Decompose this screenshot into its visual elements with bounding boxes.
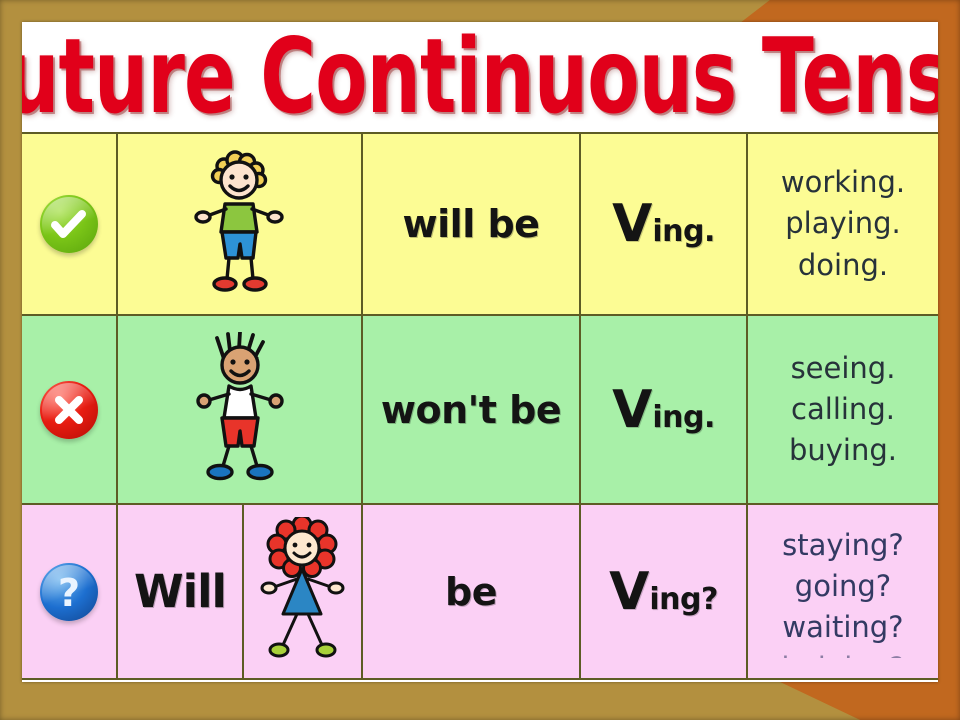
subject-cell-negative	[118, 316, 363, 503]
list-item: playing.	[752, 203, 934, 244]
verb-examples-list: staying? going? waiting? helping?	[748, 525, 938, 659]
list-item: working.	[752, 162, 934, 203]
verb-form-text: Ving.	[612, 380, 715, 440]
auxiliary-text: won't be	[381, 388, 561, 432]
stick-figure-boy-green-shirt-icon	[185, 149, 295, 299]
verb-form-base: V	[612, 380, 652, 440]
verb-form-base: V	[609, 562, 649, 622]
list-item: seeing.	[752, 348, 934, 389]
svg-text:?: ?	[58, 571, 80, 615]
verb-form-cell-affirmative: Ving.	[581, 134, 748, 314]
table-row-question: ? Will	[22, 505, 938, 680]
verb-examples-cell-negative: seeing. calling. buying.	[748, 316, 938, 503]
auxiliary-cell-negative: won't be	[363, 316, 581, 503]
list-item: staying?	[752, 525, 934, 566]
verb-examples-list: seeing. calling. buying.	[748, 348, 938, 472]
auxiliary-text: will be	[403, 202, 540, 246]
blue-question-circle-icon: ?	[40, 563, 98, 621]
verb-form-suffix: ing.	[652, 214, 715, 249]
question-word-cell: Will	[118, 505, 244, 678]
tense-structure-table: will be Ving. working. playing. doing.	[22, 132, 938, 680]
sign-cell-question: ?	[22, 505, 118, 678]
list-item-clipped: helping?	[752, 648, 934, 658]
subject-cell-affirmative	[118, 134, 363, 314]
verb-examples-cell-question: staying? going? waiting? helping?	[748, 505, 938, 678]
sign-cell-negative	[22, 316, 118, 503]
question-word-text: Will	[134, 565, 226, 618]
slide: Future Continuous Tense	[0, 0, 960, 720]
verb-form-suffix: ing?	[649, 582, 718, 617]
content-card: Future Continuous Tense	[22, 22, 938, 682]
list-item: going?	[752, 566, 934, 607]
stick-figure-girl-flower-hair-icon	[250, 517, 355, 667]
red-cross-circle-icon	[40, 381, 98, 439]
verb-form-text: Ving?	[609, 562, 718, 622]
list-item: doing.	[752, 245, 934, 286]
verb-form-cell-negative: Ving.	[581, 316, 748, 503]
table-row-affirmative: will be Ving. working. playing. doing.	[22, 134, 938, 316]
stick-figure-boy-white-tank-icon	[185, 332, 295, 487]
verb-form-base: V	[612, 194, 652, 254]
verb-form-text: Ving.	[612, 194, 715, 254]
verb-examples-list: working. playing. doing.	[748, 162, 938, 286]
green-check-circle-icon	[40, 195, 98, 253]
list-item: waiting?	[752, 607, 934, 648]
list-item: buying.	[752, 430, 934, 471]
auxiliary-cell-affirmative: will be	[363, 134, 581, 314]
auxiliary-cell-question: be	[363, 505, 581, 678]
verb-examples-cell-affirmative: working. playing. doing.	[748, 134, 938, 314]
table-row-negative: won't be Ving. seeing. calling. buying.	[22, 316, 938, 505]
auxiliary-text: be	[445, 570, 497, 614]
title-bar: Future Continuous Tense	[22, 22, 938, 132]
verb-form-cell-question: Ving?	[581, 505, 748, 678]
subject-cell-question	[244, 505, 363, 678]
list-item: calling.	[752, 389, 934, 430]
verb-form-suffix: ing.	[652, 400, 715, 435]
page-title: Future Continuous Tense	[22, 28, 938, 126]
sign-cell-affirmative	[22, 134, 118, 314]
